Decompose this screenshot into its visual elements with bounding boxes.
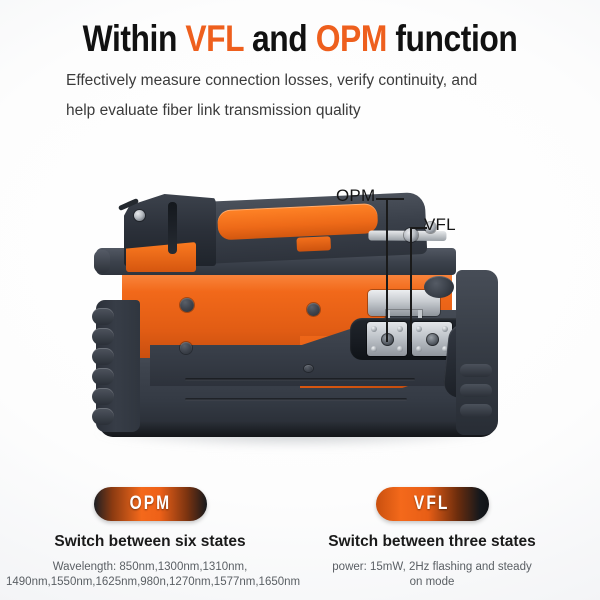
hood-latch-tab: [296, 236, 331, 252]
vfl-badge-label: VFL: [414, 493, 450, 515]
splicer-side-dial: [424, 276, 454, 298]
opm-heading: Switch between six states: [0, 533, 300, 551]
opm-detail-line-1: Wavelength: 850nm,1300nm,1310nm,: [53, 561, 248, 573]
splicer-engraved-line-1: [185, 378, 415, 381]
splicer-engraved-line-2: [185, 398, 407, 401]
opm-detail: Wavelength: 850nm,1300nm,1310nm, 1490nm,…: [0, 560, 300, 590]
title-part-opm: OPM: [316, 18, 387, 59]
callout-leader-vfl-horizontal: [410, 227, 427, 229]
product-image: [0, 150, 600, 460]
callout-leader-opm-vertical: [386, 198, 388, 342]
splicer-end-cap: [456, 270, 498, 435]
opm-badge-label: OPM: [129, 493, 171, 515]
clamp-slot: [168, 202, 177, 254]
opm-detail-line-2: 1490nm,1550nm,1625nm,980n,1270nm,1577nm,…: [6, 576, 300, 588]
hood-orange-panel: [217, 203, 378, 240]
feature-block-opm: OPM Switch between six states Wavelength…: [0, 487, 300, 590]
knob-panel-center: [307, 303, 320, 316]
vfl-heading: Switch between three states: [282, 533, 582, 551]
knob-panel-small: [304, 365, 313, 372]
vfl-detail: power: 15mW, 2Hz flashing and steady on …: [282, 560, 582, 590]
callout-leader-vfl-vertical: [410, 227, 412, 342]
callout-label-vfl: VFL: [424, 215, 456, 235]
title-part-1: Within: [83, 18, 186, 59]
callout-leader-opm-horizontal: [376, 198, 404, 200]
page-title: Within VFL and OPM function: [42, 20, 558, 57]
subtitle-line-1: Effectively measure connection losses, v…: [66, 66, 536, 96]
knob-body-upper: [180, 298, 194, 312]
screw-clamp: [134, 210, 145, 221]
title-part-5: function: [387, 18, 517, 59]
vfl-detail-line-1: power: 15mW, 2Hz flashing and steady: [332, 561, 531, 573]
opm-badge[interactable]: OPM: [94, 487, 207, 521]
title-part-3: and: [244, 18, 316, 59]
callout-label-opm: OPM: [336, 186, 375, 206]
feature-block-vfl: VFL Switch between three states power: 1…: [282, 487, 582, 590]
splicer-top-hood: [199, 192, 428, 264]
vfl-badge[interactable]: VFL: [376, 487, 489, 521]
page-subtitle: Effectively measure connection losses, v…: [66, 66, 536, 126]
splicer-side-grip: [96, 300, 140, 432]
subtitle-line-2: help evaluate fiber link transmission qu…: [66, 96, 536, 126]
knob-body-lower: [180, 342, 192, 354]
vfl-detail-line-2: on mode: [410, 576, 455, 588]
page-background: Within VFL and OPM function Effectively …: [0, 0, 600, 600]
title-part-vfl: VFL: [185, 18, 243, 59]
